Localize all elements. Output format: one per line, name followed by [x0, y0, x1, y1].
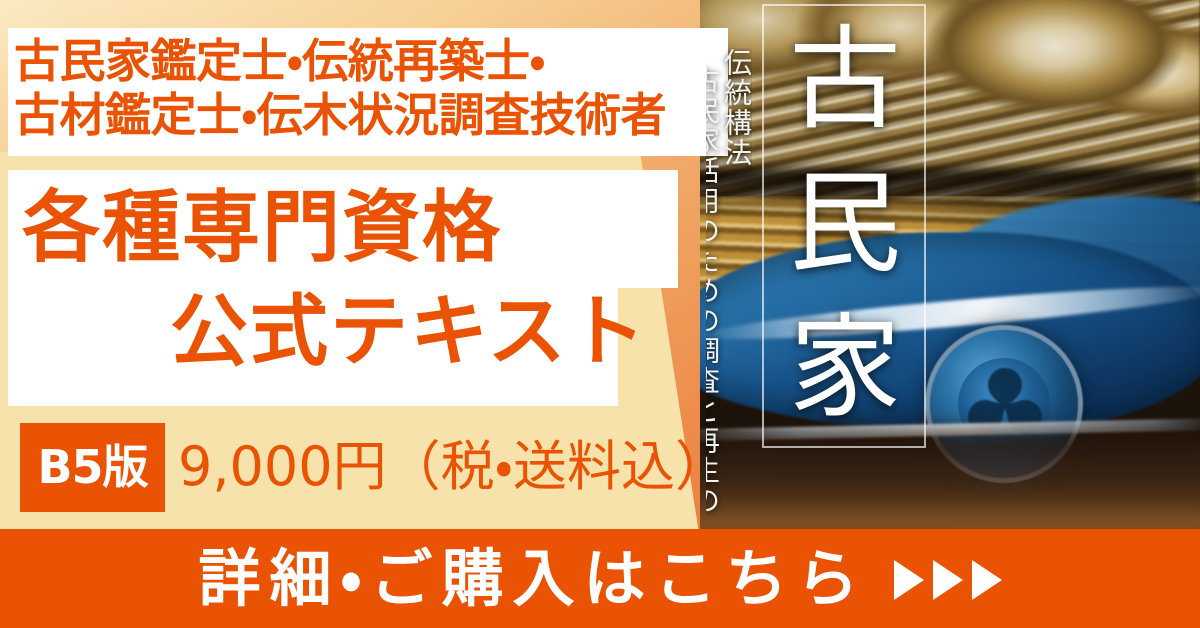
triangle-right-icon [933, 560, 963, 600]
price-label: 9,000円（税・送料込） [178, 428, 729, 506]
book-subtitle-main: 古民家活用のための調査と再生の [706, 66, 720, 528]
triangle-right-icon [972, 560, 1002, 600]
headline-line-1: 各種専門資格 [0, 176, 680, 280]
book-title-char: 古 [770, 8, 920, 152]
triangle-right-icon [894, 560, 924, 600]
badge-label: B5版 [20, 423, 165, 512]
certification-line-1: 古民家鑑定士・伝統再築士・ [14, 34, 730, 88]
book-title-char: 家 [770, 296, 920, 440]
headline-line-2: 公式テキスト [0, 280, 680, 384]
cta-label: 詳細・ご購入はこちら [198, 529, 867, 628]
cta-bar[interactable]: 詳細・ご購入はこちら [0, 529, 1200, 628]
book-title-char: 民 [770, 152, 920, 296]
promo-banner: 古民家鑑定士・伝統再築士・ 古材鑑定士・伝木状況調査技術者 各種専門資格 公式テ… [0, 0, 1200, 628]
cta-inner: 詳細・ご購入はこちら [0, 529, 1200, 628]
book-subtitle-vertical: 伝統構法 古民家活用のための調査と再生の [706, 48, 752, 528]
book-title-chars: 古民家 [770, 8, 920, 440]
certification-line-2: 古材鑑定士・伝木状況調査技術者 [14, 88, 730, 142]
status-badge-b5-size: B5版 [20, 423, 165, 512]
certification-list: 古民家鑑定士・伝統再築士・ 古材鑑定士・伝木状況調査技術者 [14, 34, 730, 142]
book-title-vertical: 古民家 [770, 8, 920, 438]
cta-arrows [894, 560, 1002, 600]
book-subtitle-top: 伝統構法 [720, 48, 752, 528]
page-title: 各種専門資格 公式テキスト [0, 176, 680, 384]
